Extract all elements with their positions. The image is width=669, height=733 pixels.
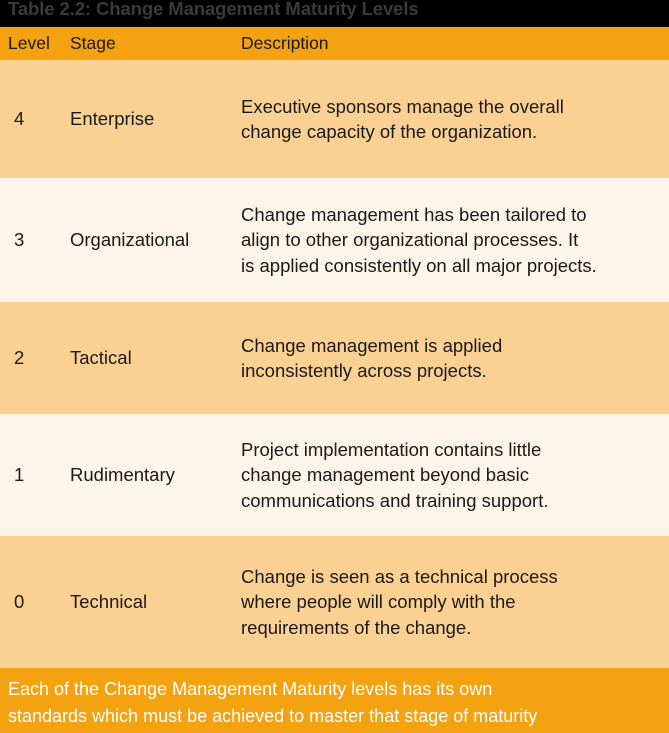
maturity-levels-table-figure: Table 2.2: Change Management Maturity Le…	[0, 0, 669, 733]
description-line: align to other organizational processes.…	[241, 229, 578, 250]
cell-stage: Organizational	[70, 227, 241, 253]
table-header-row: Level Stage Description	[0, 27, 669, 60]
cell-description: Project implementation contains little c…	[241, 437, 669, 514]
footer-note-line: Each of the Change Management Maturity l…	[8, 676, 663, 703]
description-line: inconsistently across projects.	[241, 360, 487, 381]
cell-level: 4	[0, 106, 70, 132]
cell-level: 1	[0, 462, 70, 488]
table-row: 0 Technical Change is seen as a technica…	[0, 536, 669, 668]
description-line: Change management has been tailored to	[241, 204, 587, 225]
table-title-bar: Table 2.2: Change Management Maturity Le…	[0, 0, 669, 27]
cell-level: 2	[0, 345, 70, 371]
description-line: Executive sponsors manage the overall	[241, 96, 564, 117]
description-line: change capacity of the organization.	[241, 121, 537, 142]
description-line: requirements of the change.	[241, 617, 471, 638]
cell-description: Executive sponsors manage the overall ch…	[241, 94, 669, 145]
table-title: Table 2.2: Change Management Maturity Le…	[8, 0, 419, 22]
description-line: Change management is applied	[241, 335, 502, 356]
cell-level: 0	[0, 589, 70, 615]
cell-stage: Tactical	[70, 345, 241, 371]
description-line: Project implementation contains little	[241, 439, 541, 460]
cell-description: Change is seen as a technical process wh…	[241, 564, 669, 641]
table-row: 3 Organizational Change management has b…	[0, 178, 669, 302]
description-line: communications and training support.	[241, 490, 548, 511]
table-row: 1 Rudimentary Project implementation con…	[0, 414, 669, 536]
column-header-description: Description	[241, 33, 669, 54]
table-row: 4 Enterprise Executive sponsors manage t…	[0, 60, 669, 178]
cell-stage: Enterprise	[70, 106, 241, 132]
table-row: 2 Tactical Change management is applied …	[0, 302, 669, 414]
description-line: change management beyond basic	[241, 464, 529, 485]
cell-description: Change management is applied inconsisten…	[241, 333, 669, 384]
column-header-level: Level	[0, 33, 70, 54]
description-line: where people will comply with the	[241, 591, 516, 612]
cell-level: 3	[0, 227, 70, 253]
footer-note-line: standards which must be achieved to mast…	[8, 703, 663, 730]
table-footer-note: Each of the Change Management Maturity l…	[0, 668, 669, 733]
cell-stage: Rudimentary	[70, 462, 241, 488]
description-line: is applied consistently on all major pro…	[241, 255, 597, 276]
cell-stage: Technical	[70, 589, 241, 615]
column-header-stage: Stage	[70, 33, 241, 54]
cell-description: Change management has been tailored to a…	[241, 202, 669, 279]
description-line: Change is seen as a technical process	[241, 566, 558, 587]
